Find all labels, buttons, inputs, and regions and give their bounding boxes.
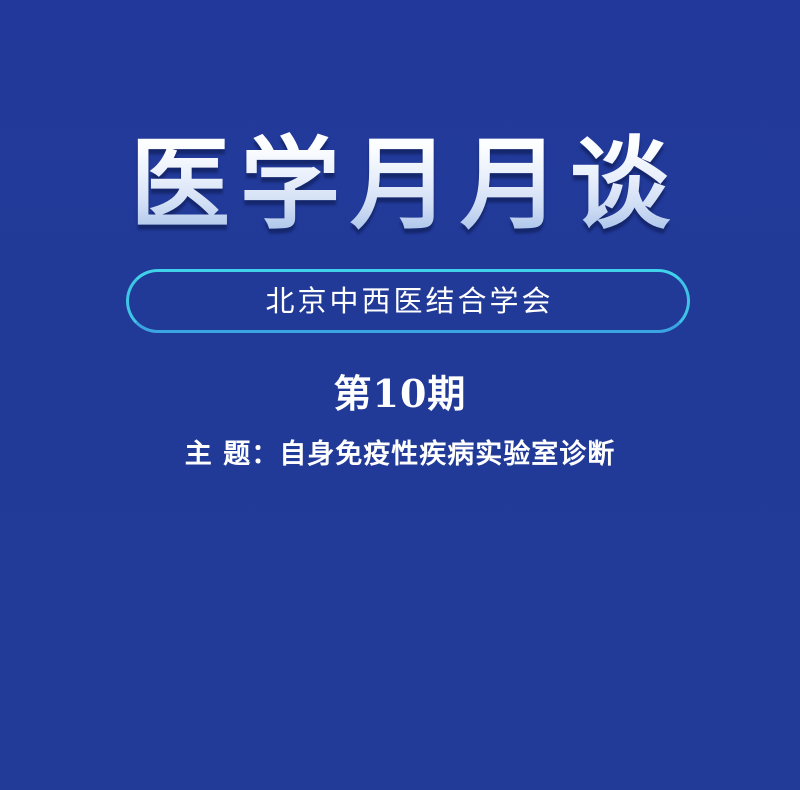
issue-number: 第10期 xyxy=(0,372,800,416)
poster-lower-blank-area xyxy=(0,500,800,790)
organization-label: 北京中西医结合学会 xyxy=(262,285,553,317)
poster-title-text: 医学月月谈 xyxy=(0,128,800,240)
poster-canvas: 医学月月谈 医学月月谈 北京中西医结合学会 第10期 主 题：自身免疫性疾病实验… xyxy=(0,0,800,790)
poster-title: 医学月月谈 医学月月谈 xyxy=(0,128,800,248)
organization-pill: 北京中西医结合学会 xyxy=(126,269,690,333)
topic-line: 主 题：自身免疫性疾病实验室诊断 xyxy=(0,438,800,472)
